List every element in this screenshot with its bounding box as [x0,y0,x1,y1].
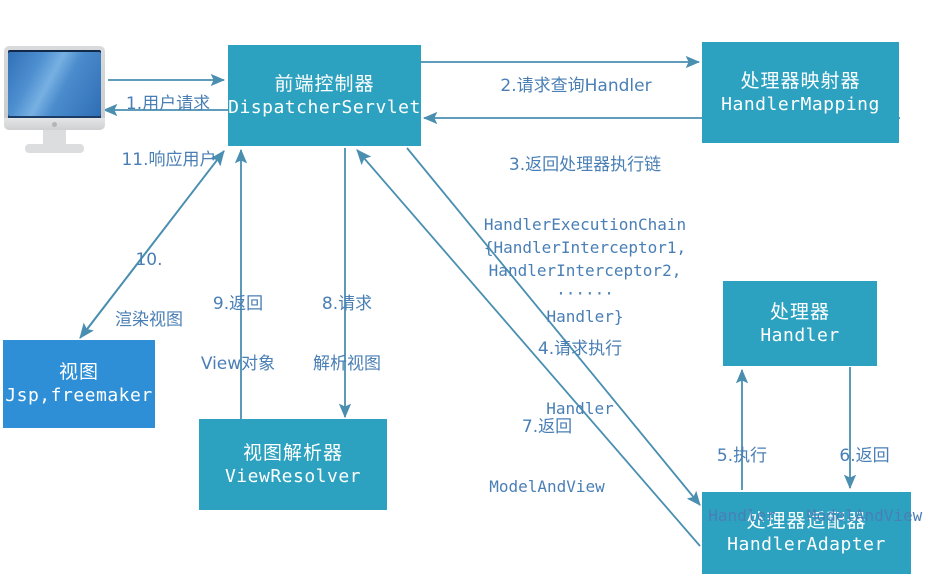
label-step-3-cn: 3.返回处理器执行链 [463,153,707,177]
node-handler-en: Handler [760,324,839,348]
node-handler-mapping[interactable]: 处理器映射器 HandlerMapping [702,42,899,143]
label-step-10-en: 渲染视图 [94,308,204,332]
node-dispatcher-servlet-en: DispatcherServlet [228,96,421,120]
monitor-screen [8,50,101,122]
node-view-resolver-cn: 视图解析器 [243,441,343,465]
label-step-8-en: 解析视图 [295,352,399,376]
label-step-6-cn: 6.返回 [796,444,933,468]
label-step-5: 5.执行 Handler [690,408,794,563]
node-handler[interactable]: 处理器 Handler [723,281,877,366]
label-step-11-cn: 11.响应用户 [104,148,234,172]
monitor-logo-dot [52,122,57,127]
label-step-10: 10. 渲染视图 [94,212,204,368]
diagram-canvas: 前端控制器 DispatcherServlet 处理器映射器 HandlerMa… [0,0,933,582]
label-step-4-cn: 4.请求执行 [500,337,660,361]
node-handler-mapping-en: HandlerMapping [721,93,880,117]
label-step-6: 6.返回 ModelAndView [796,408,933,563]
label-step-7-cn: 7.返回 [463,415,631,439]
label-step-8: 8.请求 解析视图 [295,256,399,412]
label-step-5-cn: 5.执行 [690,444,794,468]
label-step-6-en: ModelAndView [796,504,933,527]
client-monitor-icon [4,46,105,154]
label-step-7: 7.返回 ModelAndView [463,379,631,534]
label-step-5-en: Handler [690,504,794,527]
label-step-11: 11.响应用户 [104,112,234,208]
node-view-resolver[interactable]: 视图解析器 ViewResolver [199,419,387,510]
node-dispatcher-servlet-cn: 前端控制器 [274,72,374,96]
node-handler-mapping-cn: 处理器映射器 [740,69,860,93]
monitor-base [25,144,84,153]
monitor-body [4,46,105,126]
node-view-resolver-en: ViewResolver [225,465,361,489]
label-step-8-cn: 8.请求 [295,292,399,316]
label-step-2-cn: 2.请求查询Handler [466,74,686,98]
label-step-10-cn: 10. [94,248,204,272]
node-view-en: Jsp,freemaker [5,384,152,408]
node-dispatcher-servlet[interactable]: 前端控制器 DispatcherServlet [228,45,421,146]
label-step-7-en: ModelAndView [463,475,631,498]
node-handler-cn: 处理器 [770,300,830,324]
node-view-cn: 视图 [59,360,99,384]
